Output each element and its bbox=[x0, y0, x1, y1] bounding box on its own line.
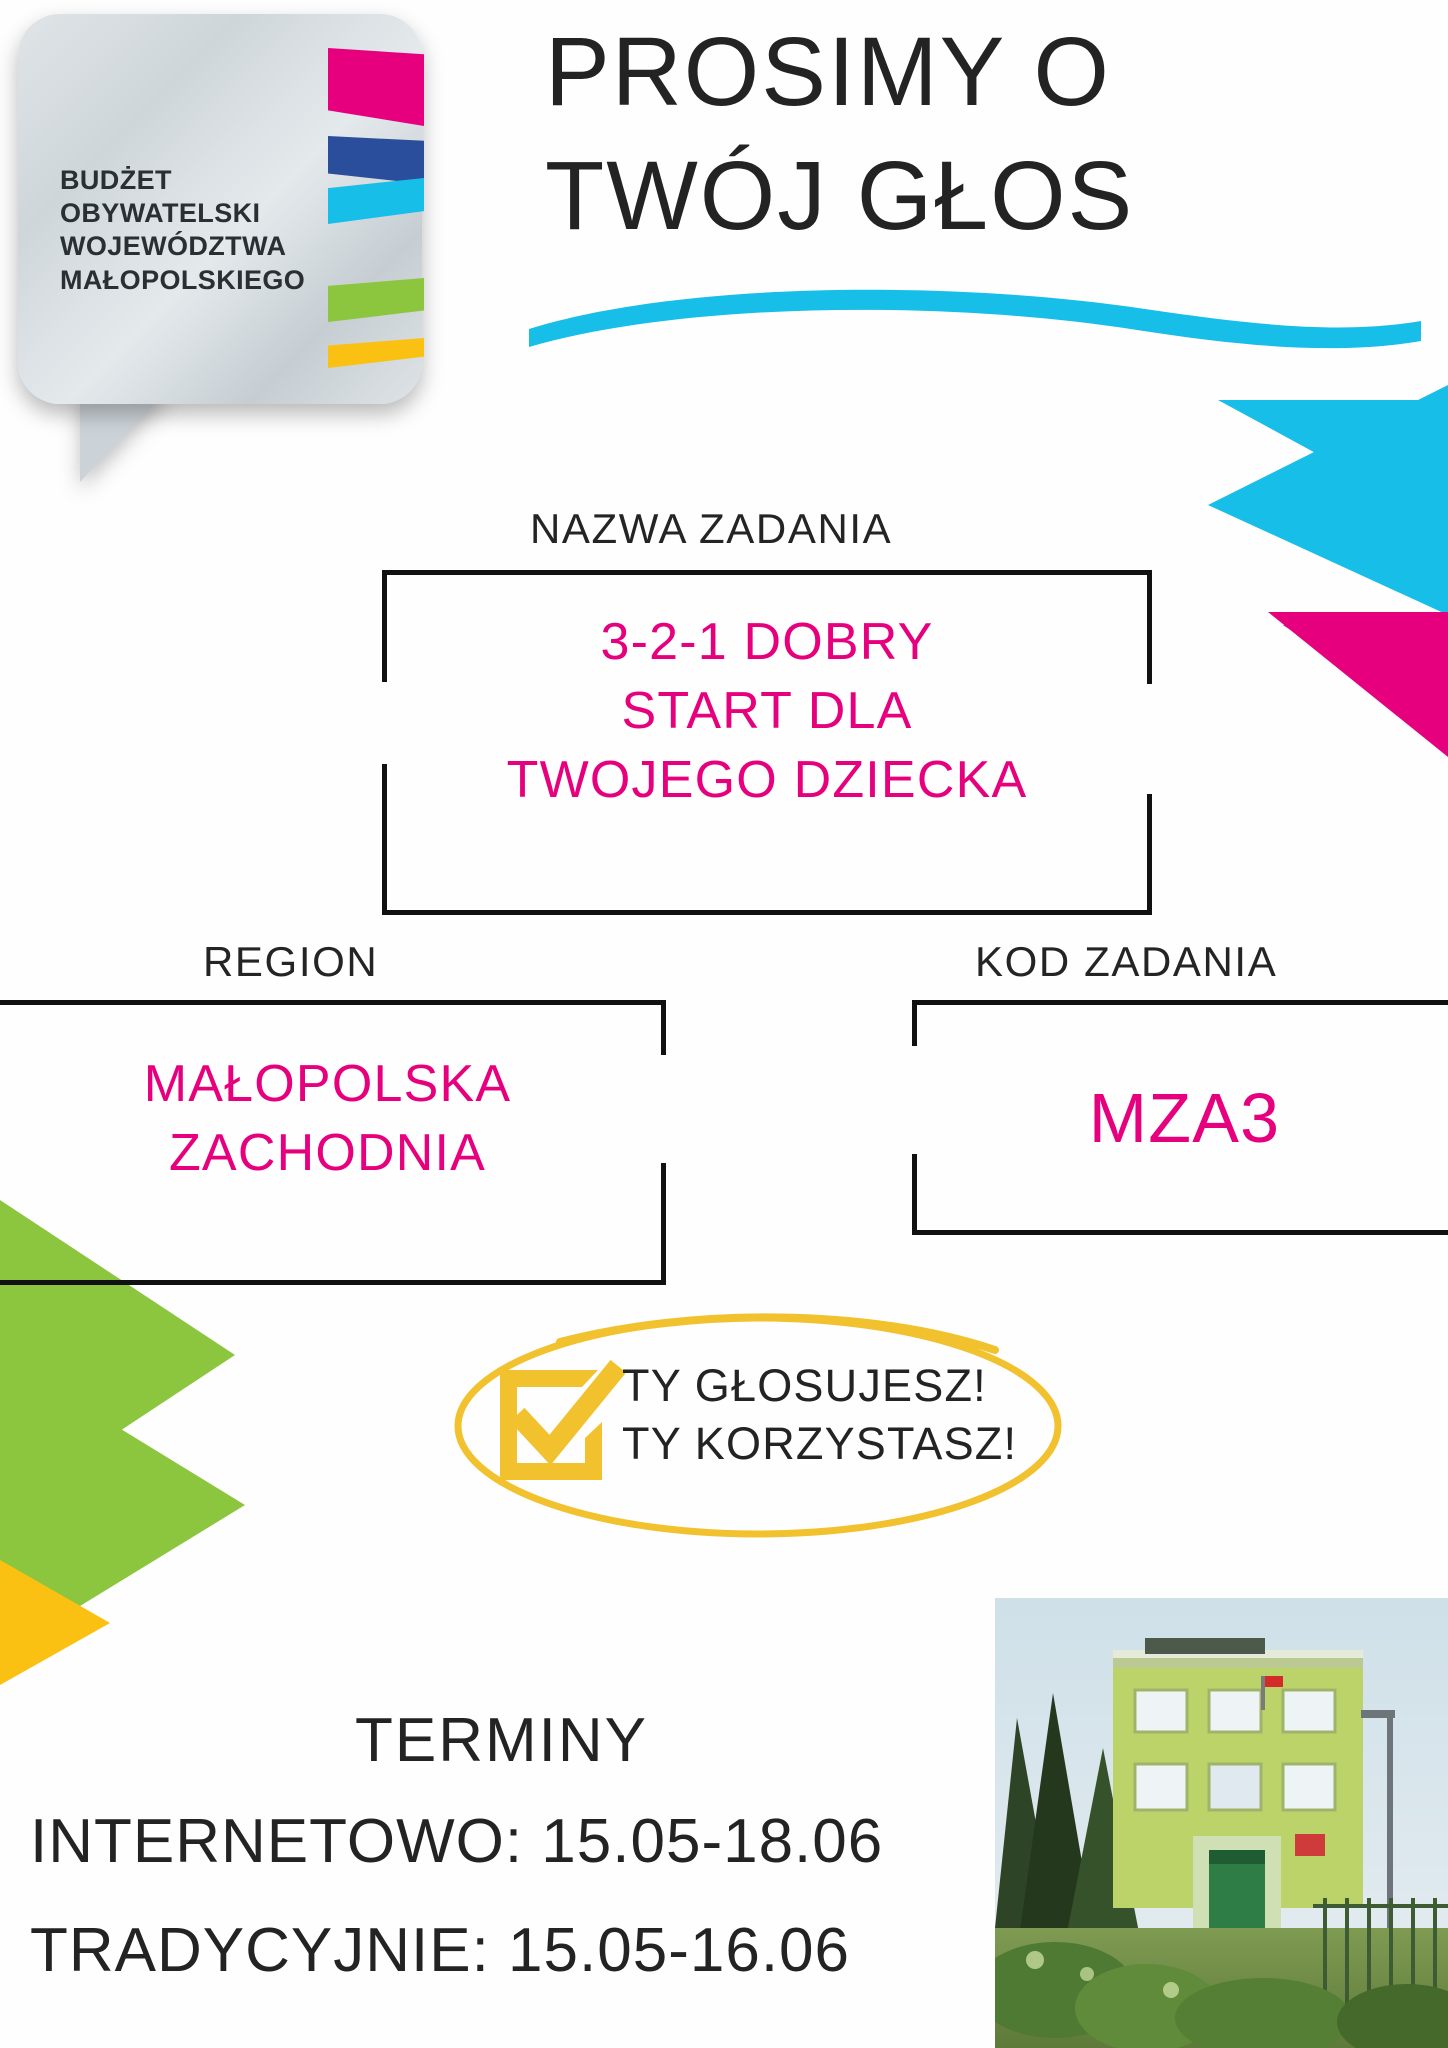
logo-band-blue bbox=[328, 136, 424, 184]
box-gap-right-nazwa bbox=[1143, 684, 1157, 794]
school-photo-illustration bbox=[995, 1598, 1448, 2048]
box-gap-right-region bbox=[657, 1055, 671, 1163]
field-value-nazwa-zadania: 3-2-1 DOBRY START DLA TWOJEGO DZIECKA bbox=[392, 608, 1142, 815]
field-label-nazwa-zadania: NAZWA ZADANIA bbox=[530, 505, 892, 553]
slogan-text: TY GŁOSUJESZ! TY KORZYSTASZ! bbox=[622, 1357, 1017, 1472]
headline-line-1: PROSIMY O bbox=[545, 10, 1425, 134]
slogan-block: TY GŁOSUJESZ! TY KORZYSTASZ! bbox=[470, 1320, 1090, 1550]
poster-canvas: BUDŻET OBYWATELSKI WOJEWÓDZTWA MAŁOPOLSK… bbox=[0, 0, 1448, 2048]
terminy-line-tradycyjnie: TRADYCYJNIE: 15.05-16.06 bbox=[30, 1915, 850, 1986]
logo-band-green bbox=[328, 278, 424, 322]
terminy-line-internetowo: INTERNETOWO: 15.05-18.06 bbox=[30, 1806, 883, 1877]
logo-band-magenta bbox=[328, 48, 424, 126]
checked-checkbox-icon bbox=[490, 1350, 625, 1490]
headline: PROSIMY O TWÓJ GŁOS bbox=[545, 10, 1425, 258]
cyan-wedge-decoration bbox=[1208, 385, 1448, 625]
field-label-kod-zadania: KOD ZADANIA bbox=[975, 938, 1277, 986]
box-gap-left-nazwa bbox=[377, 682, 391, 764]
field-value-region: MAŁOPOLSKA ZACHODNIA bbox=[0, 1050, 655, 1188]
logo: BUDŻET OBYWATELSKI WOJEWÓDZTWA MAŁOPOLSK… bbox=[8, 6, 428, 476]
school-building-photo bbox=[995, 1598, 1448, 2048]
magenta-wedge-decoration bbox=[1268, 612, 1448, 772]
field-label-region: REGION bbox=[203, 938, 378, 986]
green-wedge-decoration bbox=[0, 1355, 250, 1695]
terminy-title: TERMINY bbox=[355, 1705, 648, 1776]
headline-line-2: TWÓJ GŁOS bbox=[545, 134, 1425, 258]
slogan-line-1: TY GŁOSUJESZ! bbox=[622, 1357, 1017, 1415]
logo-band-cyan bbox=[328, 178, 424, 224]
slogan-line-2: TY KORZYSTASZ! bbox=[622, 1415, 1017, 1473]
logo-color-bands bbox=[328, 48, 438, 358]
cyan-wave-decoration bbox=[525, 285, 1425, 355]
logo-text: BUDŻET OBYWATELSKI WOJEWÓDZTWA MAŁOPOLSK… bbox=[60, 164, 305, 297]
field-value-kod-zadania: MZA3 bbox=[912, 1072, 1448, 1165]
